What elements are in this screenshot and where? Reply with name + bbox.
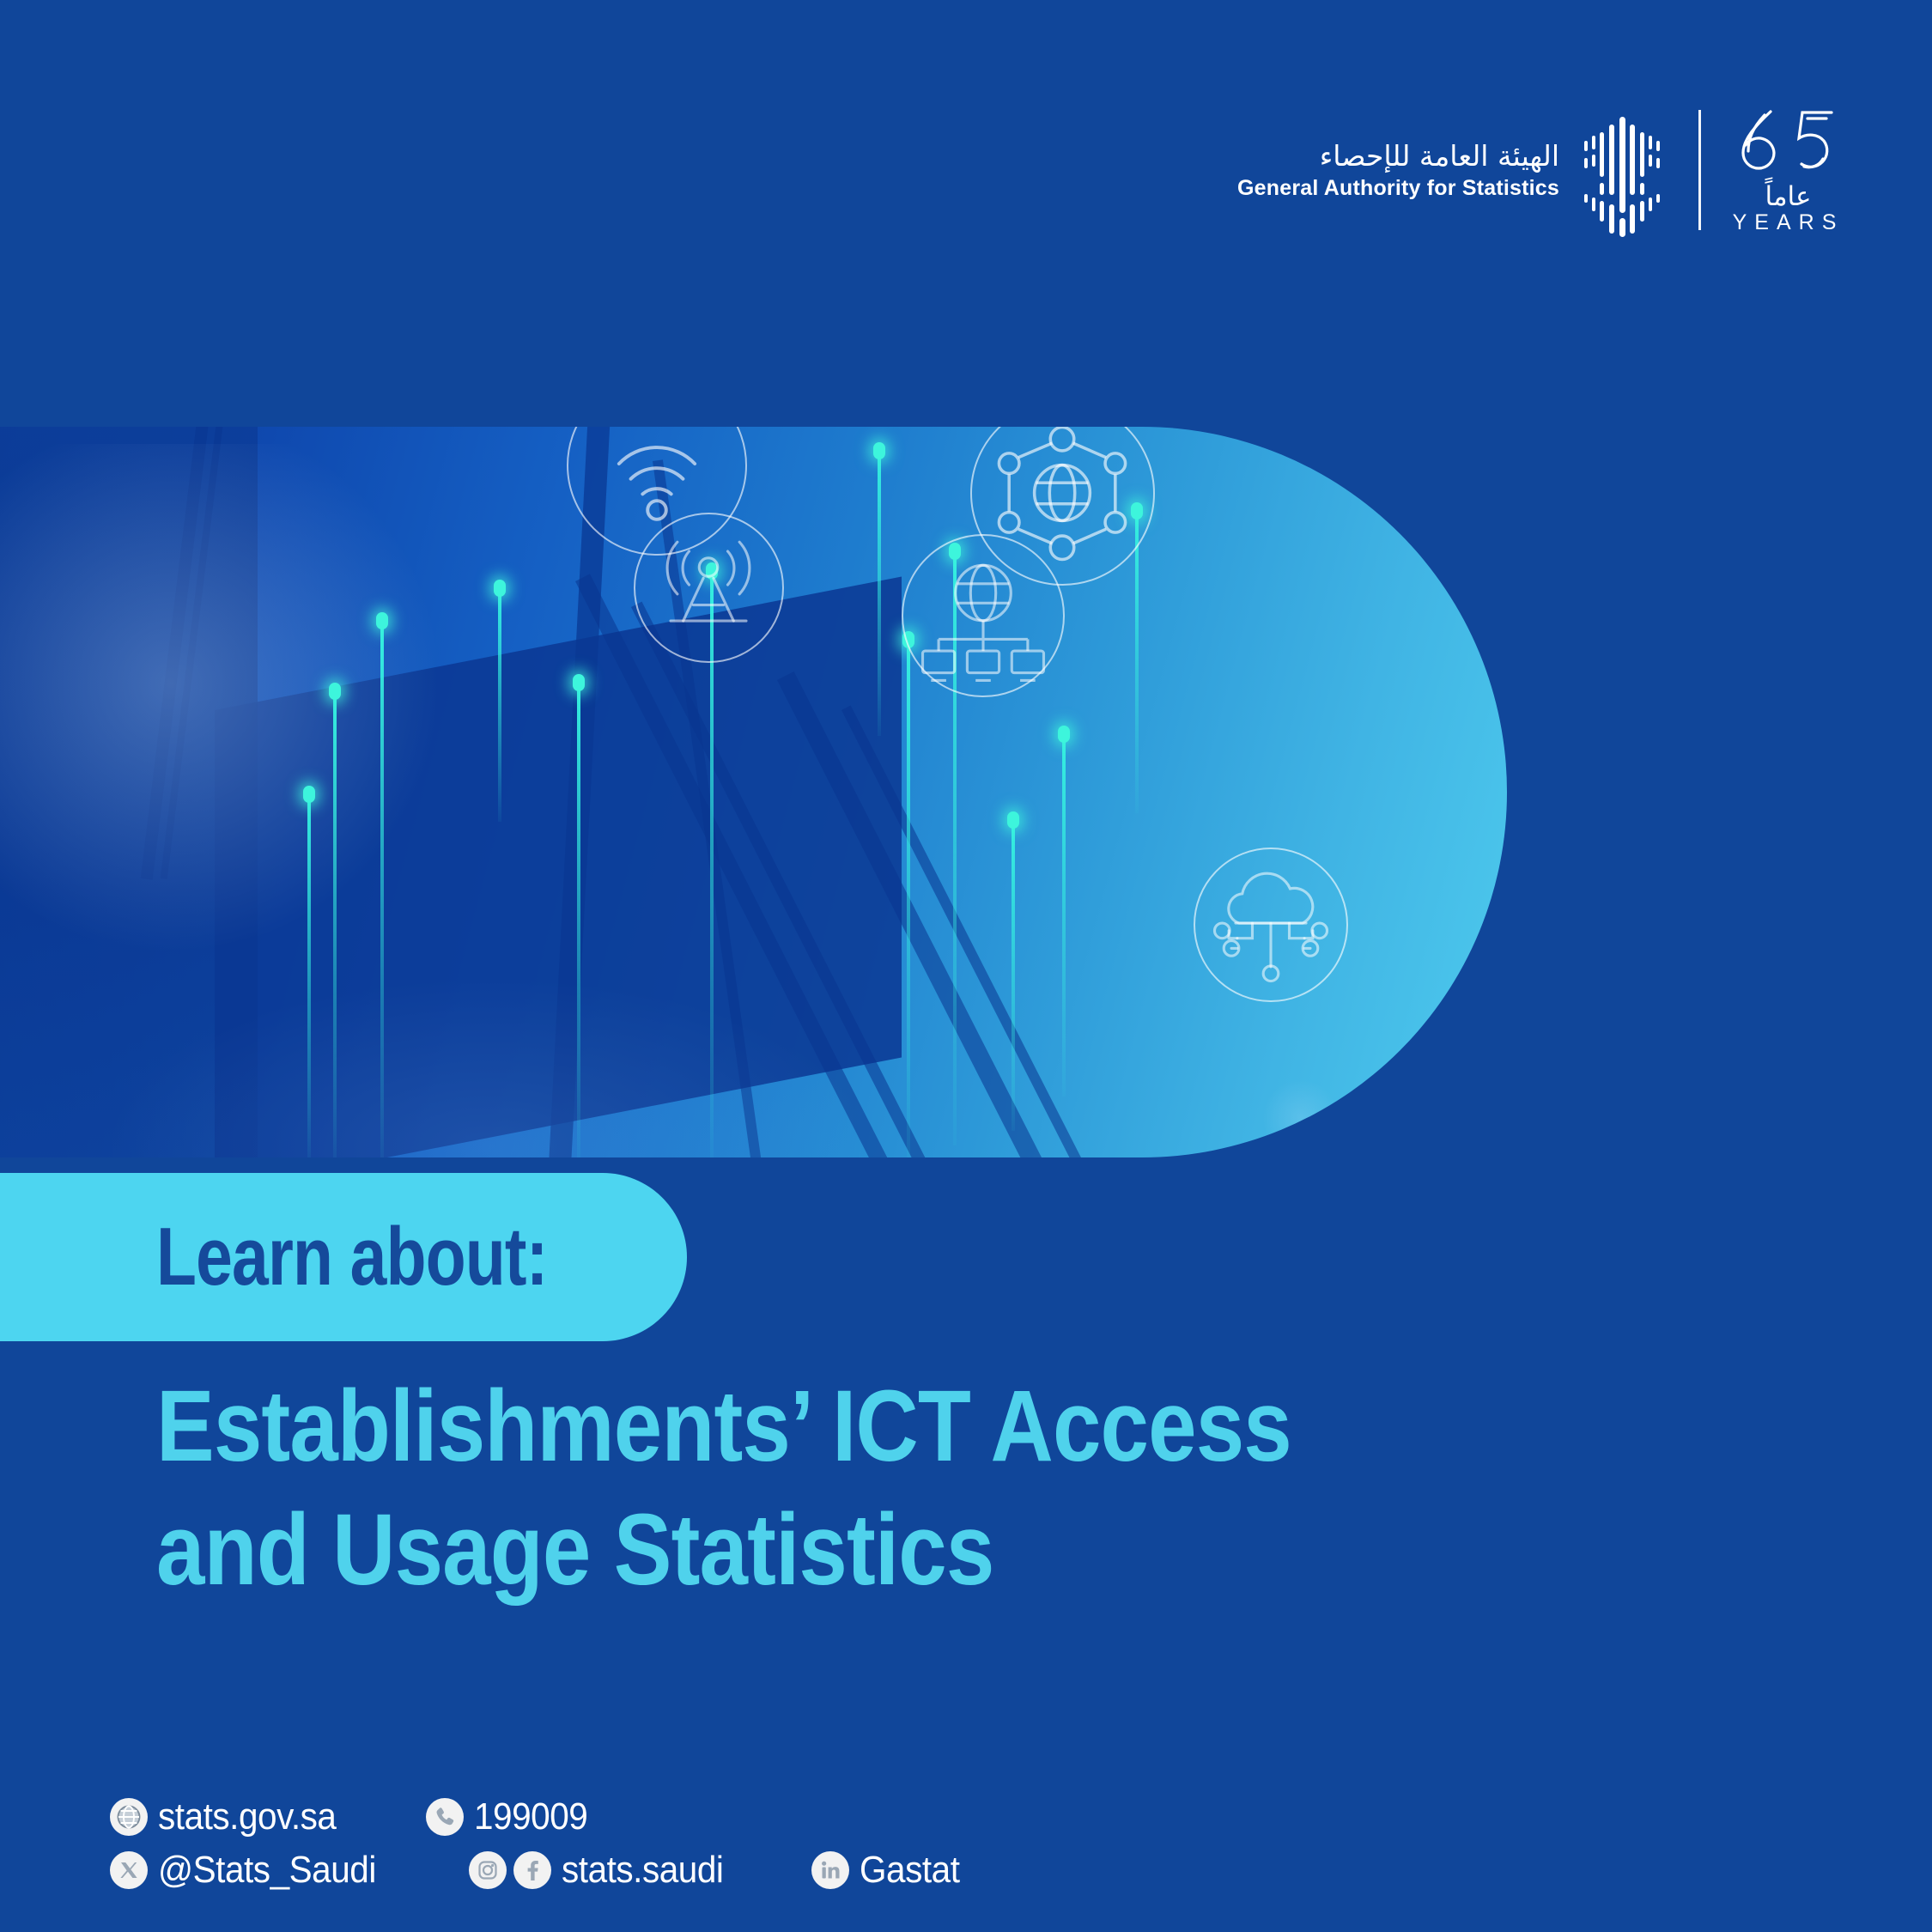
atmospheric-haze [0,444,464,976]
phone-contact[interactable]: 199009 [426,1795,598,1838]
header-bar: الهيئة العامة للإحصاء General Authority … [0,0,1932,427]
light-beam [380,623,384,1157]
learn-about-pill: Learn about: [0,1173,687,1341]
gastat-logo-lockup: الهيئة العامة للإحصاء General Authority … [1237,101,1846,239]
website-label: stats.gov.sa [158,1795,336,1838]
phone-label: 199009 [474,1795,587,1838]
logo-divider [1698,110,1701,230]
logo-arabic-name: الهيئة العامة للإحصاء [1320,138,1559,173]
anniversary-badge: عاماً YEARS [1730,105,1846,235]
phone-icon [426,1798,464,1836]
light-beam [907,641,910,1157]
contact-row-2: @Stats_Saudi stats.saudi [110,1844,1000,1897]
broadcast-tower-icon [634,513,784,663]
page-title-line-2: and Usage Statistics [156,1489,1449,1613]
x-twitter-icon [110,1851,148,1889]
anniversary-arabic-label: عاماً [1765,181,1812,212]
x-handle-label: @Stats_Saudi [158,1849,376,1892]
light-beam [333,693,337,1157]
cloud-computing-icon [1194,848,1348,1002]
light-beam [878,453,881,736]
x-contact[interactable]: @Stats_Saudi [110,1849,395,1892]
social-handle-label: stats.saudi [562,1849,723,1892]
linkedin-contact[interactable]: Gastat [811,1849,969,1892]
anniversary-65-icon [1730,105,1846,178]
beam-cap [573,674,585,691]
beam-cap [1058,726,1070,743]
contact-row-1: stats.gov.sa 199009 [110,1790,1000,1844]
anniversary-years-label: YEARS [1733,210,1844,235]
social-handles[interactable]: stats.saudi [469,1849,738,1892]
facebook-icon [513,1851,551,1889]
linkedin-label: Gastat [860,1849,959,1892]
instagram-icon [469,1851,507,1889]
globe-icon [110,1798,148,1836]
lan-globe-icon [902,534,1065,697]
contact-footer: stats.gov.sa 199009 @Stats_Saudi [110,1790,1000,1897]
linkedin-icon [811,1851,849,1889]
beam-cap [494,580,506,597]
beam-cap [376,612,388,629]
beam-cap [873,442,885,459]
light-beam [1012,822,1015,1131]
atmospheric-haze [103,976,876,1157]
light-beam [498,590,501,822]
website-contact[interactable]: stats.gov.sa [110,1795,352,1838]
beam-cap [1007,811,1019,829]
beam-cap [329,683,341,700]
page-title: Establishments’ ICT Access and Usage Sta… [156,1365,1659,1613]
learn-about-label: Learn about: [156,1210,547,1304]
light-beam [577,684,580,1157]
light-beam [1062,736,1066,1097]
light-beam [307,796,311,1157]
logo-text-block: الهيئة العامة للإحصاء General Authority … [1237,138,1559,203]
beam-cap [303,786,315,803]
page-title-line-1: Establishments’ ICT Access [156,1365,1449,1489]
hero-image [0,427,1507,1157]
bokeh-dot [1262,1079,1340,1157]
gastat-logo-mark [1575,101,1669,239]
logo-english-name: General Authority for Statistics [1237,175,1559,202]
